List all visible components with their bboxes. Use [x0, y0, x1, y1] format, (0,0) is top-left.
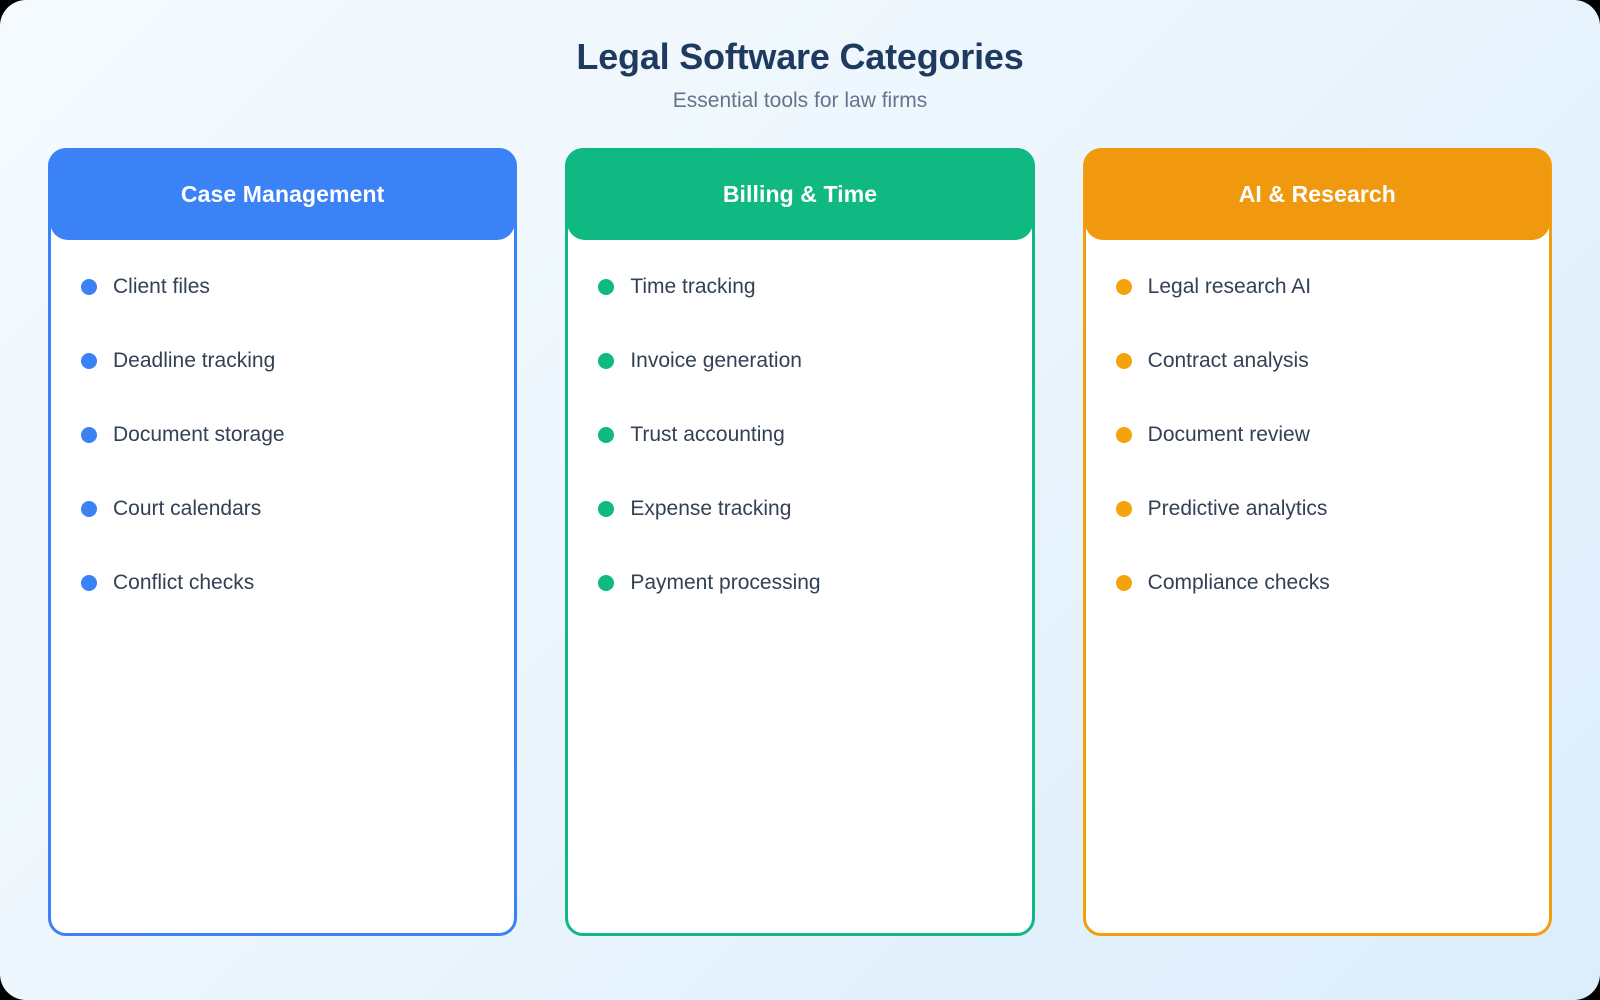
list-item-label: Compliance checks [1148, 570, 1330, 596]
filled-circle-icon [1116, 353, 1132, 369]
list-item[interactable]: Expense tracking [568, 492, 1031, 526]
list-item[interactable]: Trust accounting [568, 418, 1031, 452]
page-subtitle: Essential tools for law firms [0, 88, 1600, 114]
feature-list-case-management: Client files Deadline tracking Document … [51, 243, 514, 640]
list-item-label: Court calendars [113, 496, 261, 522]
card-title: Billing & Time [723, 181, 877, 208]
list-item-label: Document storage [113, 422, 285, 448]
list-item-label: Predictive analytics [1148, 496, 1328, 522]
list-item[interactable]: Document storage [51, 418, 514, 452]
list-item[interactable]: Client files [51, 270, 514, 304]
card-header-case-management: Case Management [50, 148, 515, 240]
filled-circle-icon [598, 427, 614, 443]
card-title: Case Management [181, 181, 384, 208]
filled-circle-icon [598, 501, 614, 517]
list-item-label: Invoice generation [630, 348, 802, 374]
list-item[interactable]: Contract analysis [1086, 344, 1549, 378]
list-item[interactable]: Invoice generation [568, 344, 1031, 378]
card-title: AI & Research [1239, 181, 1396, 208]
list-item[interactable]: Document review [1086, 418, 1549, 452]
list-item-label: Contract analysis [1148, 348, 1309, 374]
filled-circle-icon [81, 501, 97, 517]
list-item-label: Client files [113, 274, 210, 300]
category-card-ai-research[interactable]: AI & Research Legal research AI Contract… [1083, 148, 1552, 936]
list-item[interactable]: Time tracking [568, 270, 1031, 304]
category-cards-row: Case Management Client files Deadline tr… [48, 148, 1552, 936]
list-item-label: Expense tracking [630, 496, 791, 522]
category-card-billing-time[interactable]: Billing & Time Time tracking Invoice gen… [565, 148, 1034, 936]
infographic-page: Legal Software Categories Essential tool… [0, 0, 1600, 1000]
filled-circle-icon [81, 427, 97, 443]
filled-circle-icon [81, 279, 97, 295]
filled-circle-icon [598, 279, 614, 295]
list-item[interactable]: Legal research AI [1086, 270, 1549, 304]
feature-list-billing-time: Time tracking Invoice generation Trust a… [568, 243, 1031, 640]
list-item-label: Legal research AI [1148, 274, 1311, 300]
filled-circle-icon [1116, 427, 1132, 443]
list-item[interactable]: Payment processing [568, 566, 1031, 600]
list-item[interactable]: Court calendars [51, 492, 514, 526]
list-item-label: Payment processing [630, 570, 820, 596]
filled-circle-icon [81, 353, 97, 369]
list-item-label: Deadline tracking [113, 348, 275, 374]
list-item[interactable]: Conflict checks [51, 566, 514, 600]
list-item-label: Document review [1148, 422, 1310, 448]
list-item-label: Trust accounting [630, 422, 784, 448]
page-title: Legal Software Categories [0, 34, 1600, 80]
card-header-ai-research: AI & Research [1085, 148, 1550, 240]
list-item-label: Time tracking [630, 274, 755, 300]
list-item[interactable]: Compliance checks [1086, 566, 1549, 600]
filled-circle-icon [1116, 575, 1132, 591]
list-item[interactable]: Predictive analytics [1086, 492, 1549, 526]
page-header: Legal Software Categories Essential tool… [0, 0, 1600, 114]
filled-circle-icon [81, 575, 97, 591]
list-item-label: Conflict checks [113, 570, 254, 596]
filled-circle-icon [598, 575, 614, 591]
filled-circle-icon [1116, 501, 1132, 517]
card-header-billing-time: Billing & Time [567, 148, 1032, 240]
feature-list-ai-research: Legal research AI Contract analysis Docu… [1086, 243, 1549, 640]
list-item[interactable]: Deadline tracking [51, 344, 514, 378]
filled-circle-icon [598, 353, 614, 369]
category-card-case-management[interactable]: Case Management Client files Deadline tr… [48, 148, 517, 936]
filled-circle-icon [1116, 279, 1132, 295]
